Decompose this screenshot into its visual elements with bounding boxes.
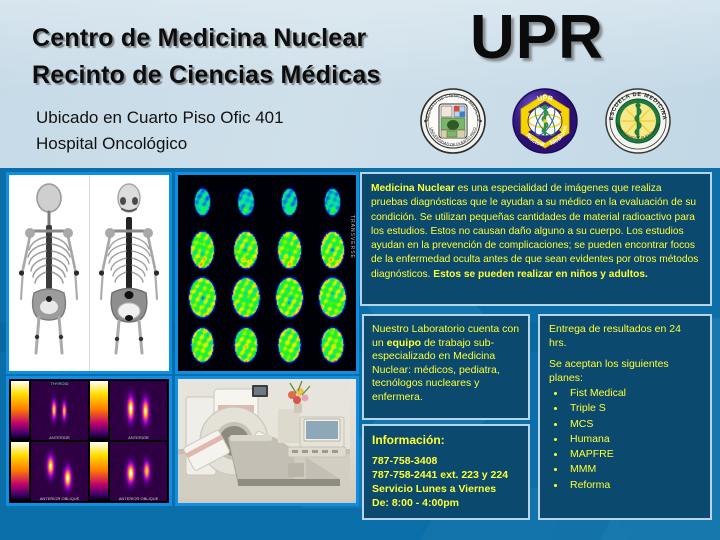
intro-bold-lead: Medicina Nuclear [371,183,455,194]
contact-info-line: 787-758-3408 [372,454,520,468]
page-title-line1: Centro de Medicina Nuclear [32,24,366,53]
page-title-line2: Recinto de Ciencias Médicas [32,61,381,90]
thyroid-colorbar-4 [90,442,108,501]
insurance-plan-item: Triple S [566,401,701,416]
insurance-plan-item: MCS [566,417,701,432]
poster-root: Centro de Medicina Nuclear Recinto de Ci… [0,0,720,540]
thyroid-colorbar-2 [90,381,108,440]
insurance-plans-list: Fist MedicalTriple SMCSHumanaMAPFREMMMRe… [549,386,701,493]
brand-upr-wordmark: UPR [470,2,604,73]
team-paragraph: Nuestro Laboratorio cuenta con un equipo… [372,323,520,405]
subtitle-location: Ubicado en Cuarto Piso Ofic 401 [36,108,284,128]
thyroid-view-caption-1: ANTERIOR [31,435,88,440]
insurance-plan-item: MMM [566,462,701,477]
contact-info-line: 787-758-2441 ext. 223 y 224 [372,468,520,482]
poster-header: Centro de Medicina Nuclear Recinto de Ci… [0,0,720,168]
pet-slice [181,178,223,225]
thyroid-view-caption-2: ANTERIOR [110,435,167,440]
svg-text:UPR: UPR [537,95,554,103]
insurance-plan-item: Fist Medical [566,386,701,401]
pet-slice [224,274,266,321]
thyroid-view-oblique-right: ANTERIOR OBLIQUE [110,442,167,501]
pet-slice [311,178,353,225]
rcm-seal-icon: RECINTO DE CIENCIAS MEDICAS UNIVERSIDAD … [420,88,486,154]
intro-paragraph: Medicina Nuclear es una especialidad de … [371,182,701,282]
contact-info-line: De: 8:00 - 4:00pm [372,496,520,510]
pet-slice [268,321,310,368]
pet-slice [268,178,310,225]
thyroid-view-caption-4: ANTERIOR OBLIQUE [110,496,167,501]
bone-scintigraphy-image [6,172,172,374]
brain-pet-slices-image: TRANSVERSE [175,172,359,374]
pet-slice [311,321,353,368]
intro-bold-tail: Estos se pueden realizar en niños y adul… [433,269,648,280]
pet-slice [268,274,310,321]
pet-slice [224,178,266,225]
pet-slice [181,226,223,273]
thyroid-view-caption-3: ANTERIOR OBLIQUE [31,496,88,501]
thyroid-study-label: THYROID [31,381,88,386]
contact-info-heading: Información: [372,433,520,447]
team-panel: Nuestro Laboratorio cuenta con un equipo… [362,314,530,420]
thyroid-scintigraphy-image: THYROID ANTERIOR ANTERIOR ANTERIOR OBLIQ… [6,376,172,506]
pet-slice [181,321,223,368]
pet-slice [224,321,266,368]
gamma-camera-room-photo [175,376,359,506]
intro-panel: Medicina Nuclear es una especialidad de … [360,172,712,306]
insurance-plan-item: Reforma [566,478,701,493]
pet-slice-grid: TRANSVERSE [178,175,356,371]
contact-info-panel: Información: 787-758-3408787-758-2441 ex… [362,424,530,520]
plans-lead-text: Se aceptan los siguientes planes: [549,358,701,385]
upr-nuclear-medicine-seal-icon: UPR Nuclear Medicine [512,88,578,154]
intro-body: es una especialidad de imágenes que real… [371,183,698,280]
pet-slice [311,274,353,321]
insurance-plan-item: MAPFRE [566,447,701,462]
thyroid-view-anterior: THYROID ANTERIOR [31,381,88,440]
pet-slice [181,274,223,321]
contact-info-lines: 787-758-3408787-758-2441 ext. 223 y 224S… [372,454,520,510]
thyroid-colorbar-1 [11,381,29,440]
thyroid-view-oblique-left: ANTERIOR OBLIQUE [31,442,88,501]
team-bold-word: equipo [387,337,421,349]
insurance-plans-panel: Entrega de resultados en 24 hrs. Se acep… [538,314,712,520]
thyroid-colorbar-3 [11,442,29,501]
turnaround-text: Entrega de resultados en 24 hrs. [549,323,701,350]
subtitle-hospital: Hospital Oncológico [36,134,187,154]
thyroid-view-anterior-zoom: ANTERIOR [110,381,167,440]
pet-slice [268,226,310,273]
escuela-de-medicina-seal-icon: ESCUELA DE MEDICINA UNIVERSIDAD DE PUERT… [605,88,671,154]
pet-slice [224,226,266,273]
pet-slice [311,226,353,273]
insurance-plan-item: Humana [566,432,701,447]
pet-orientation-label: TRANSVERSE [349,215,355,259]
contact-info-line: Servicio Lunes a Viernes [372,482,520,496]
